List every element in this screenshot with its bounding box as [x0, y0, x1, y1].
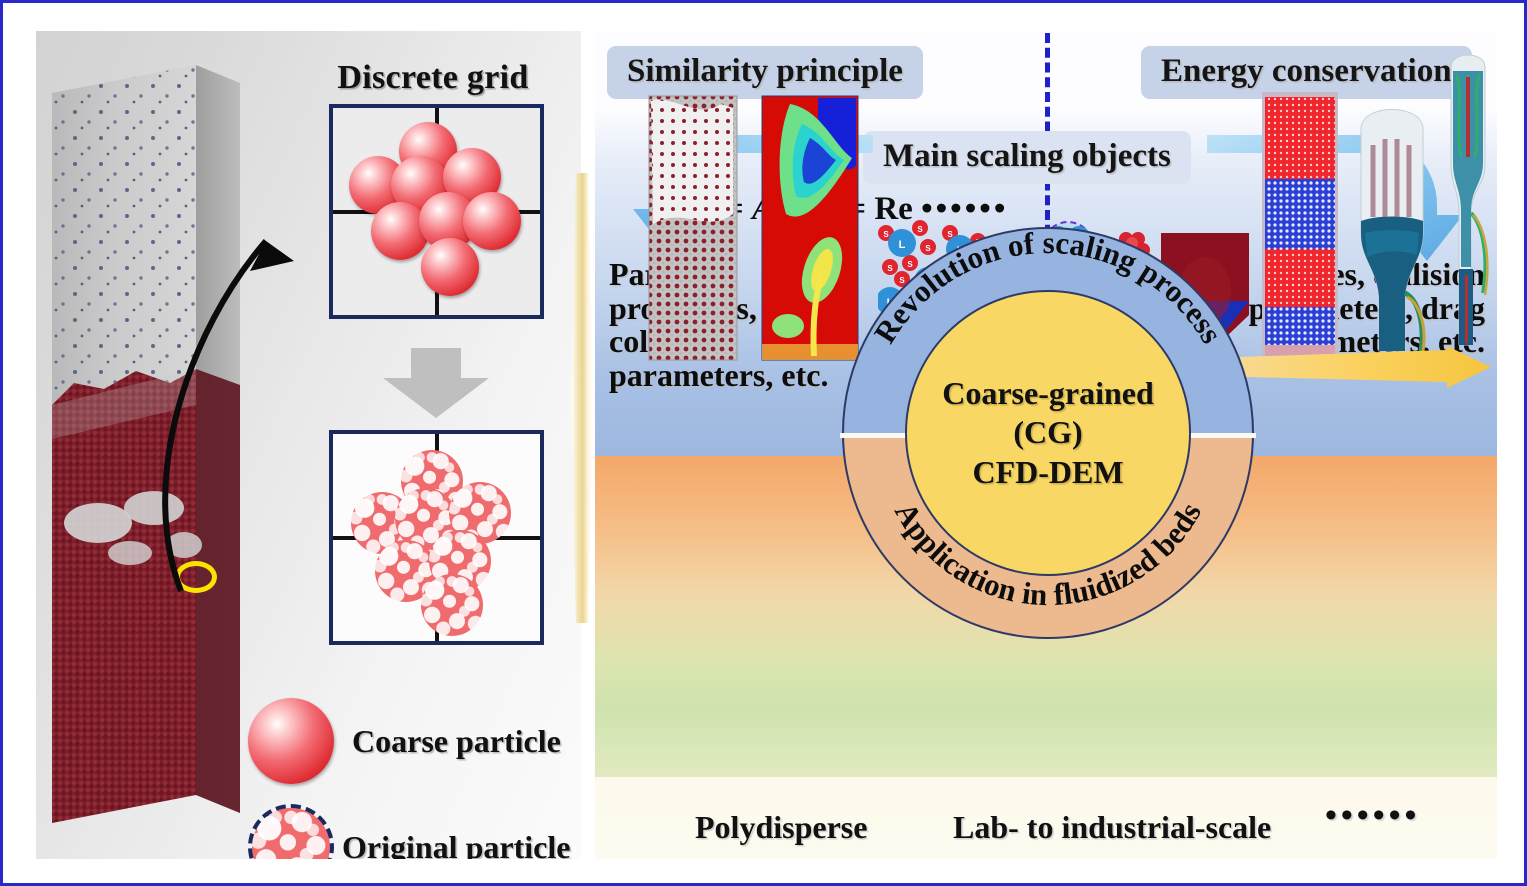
app-image-red-blue-bed — [1261, 91, 1339, 363]
discrete-grid-title: Discrete grid — [298, 59, 568, 97]
coarse-sphere — [421, 238, 479, 296]
app-image-riser-reactor — [1441, 45, 1495, 363]
discrete-grid-cell-original — [329, 430, 544, 645]
center-line-3: CFD-DEM — [972, 453, 1123, 492]
gray-down-arrow-icon — [381, 348, 491, 420]
dashed-circle-particle-cluster-icon — [248, 804, 334, 859]
center-line-1: Coarse-grained — [942, 374, 1154, 413]
main-scaling-objects-chip: Main scaling objects — [863, 131, 1191, 184]
ring-center-label: Coarse-grained (CG) CFD-DEM — [842, 227, 1254, 639]
app-image-gray-bed — [647, 94, 739, 362]
legend-item-coarse-particle: Coarse particle — [248, 698, 561, 784]
right-panel-scaling-overview: Similarity principle Energy conservation… — [595, 31, 1497, 859]
legend-label-coarse-particle: Coarse particle — [352, 723, 561, 760]
legend-item-original-particle: Original particle — [248, 804, 570, 859]
header-similarity-principle: Similarity principle — [607, 46, 923, 99]
center-line-2: (CG) — [1013, 413, 1082, 452]
graphical-abstract-figure: Discrete grid — [0, 0, 1527, 886]
legend-label-original-particle: Original particle — [342, 829, 570, 860]
yellow-ellipse-highlight-icon — [175, 561, 217, 593]
app-image-industrial-vessel — [1347, 83, 1437, 363]
red-sphere-icon — [248, 698, 334, 784]
discrete-grid-cell-coarse — [329, 104, 544, 319]
central-ring-diagram: Revolution of scaling process Applicatio… — [842, 227, 1254, 639]
bottom-label-polydisperse: Polydisperse — [695, 809, 867, 846]
left-panel-coarse-graining-concept: Discrete grid — [36, 31, 581, 859]
particle-cluster — [421, 574, 483, 636]
bottom-label-scale: Lab- to industrial-scale — [953, 809, 1271, 846]
bottom-label-ellipsis: •••••• — [1325, 797, 1420, 835]
coarse-sphere — [463, 192, 521, 250]
bed-column-illustration — [44, 53, 259, 843]
